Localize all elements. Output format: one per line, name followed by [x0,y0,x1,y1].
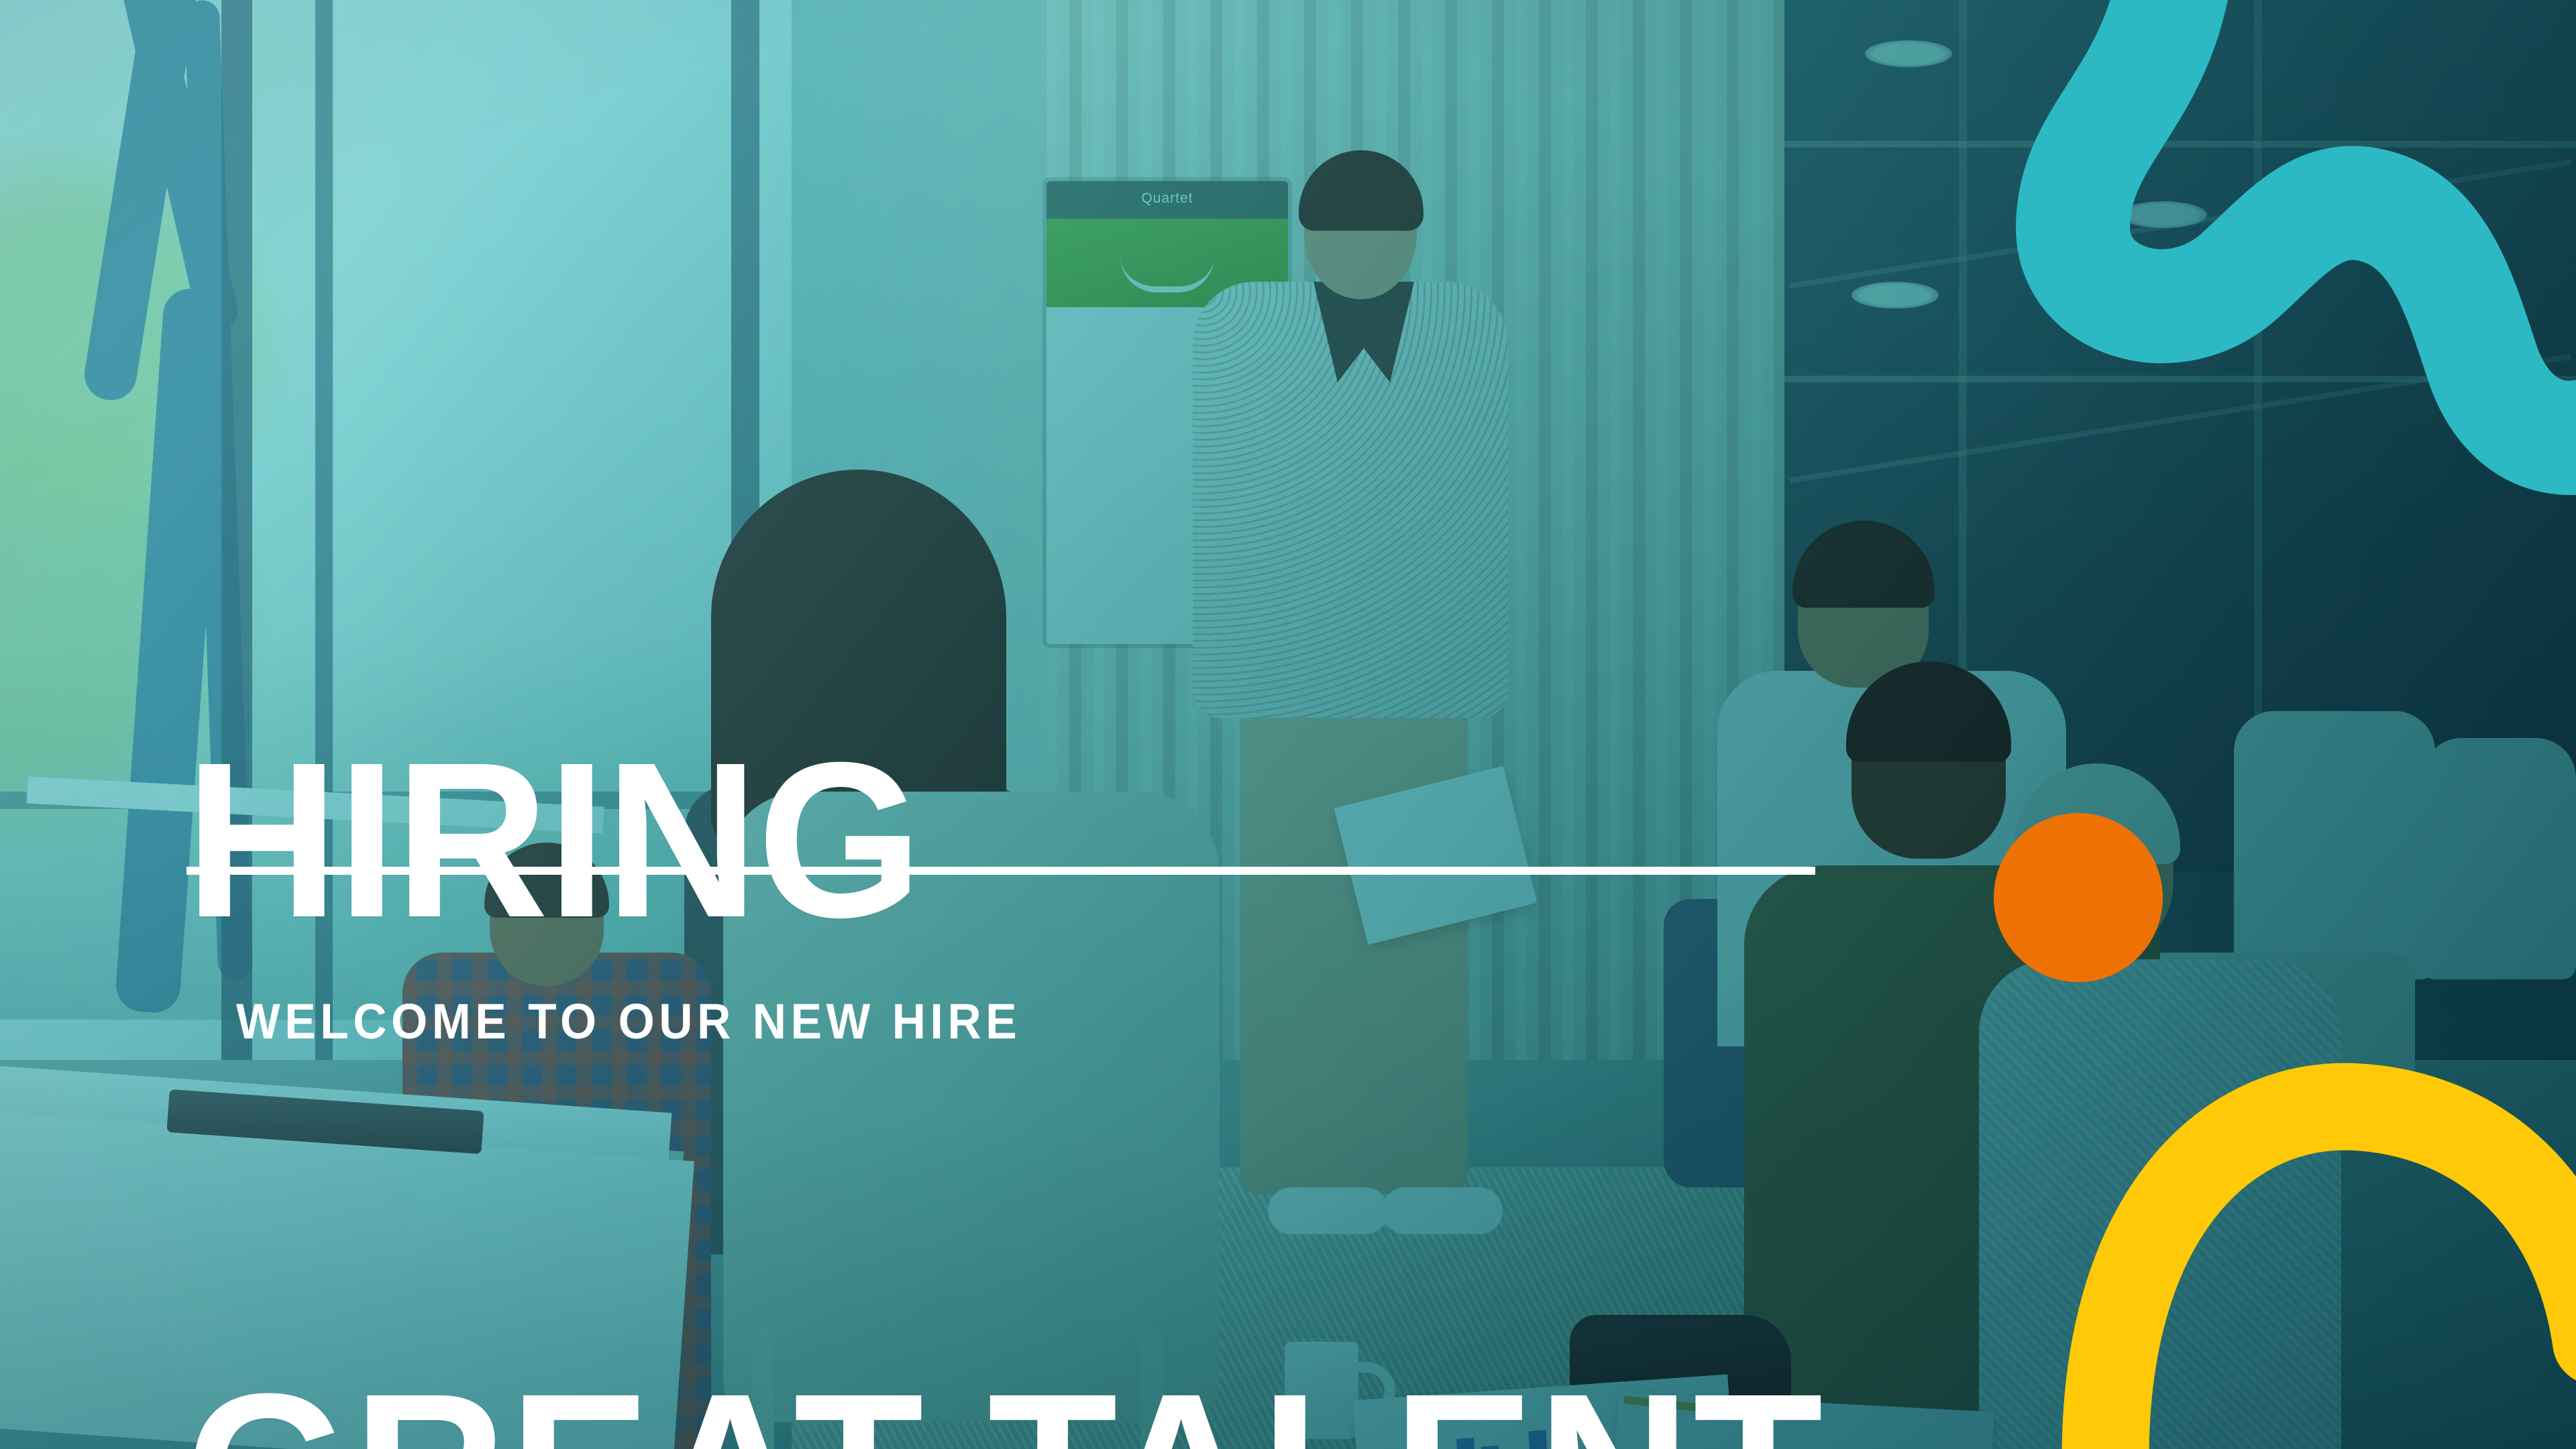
headline-line-2: GREAT TALENT [185,1366,1825,1449]
hiring-banner: Quartet [0,0,2576,1449]
banner-subtitle: WELCOME TO OUR NEW HIRE [236,993,1021,1050]
page-title: HIRING GREAT TALENT [185,314,1825,1449]
headline-line-1: HIRING [185,735,1825,945]
banner-content: HIRING GREAT TALENT WELCOME TO OUR NEW H… [0,0,2576,1449]
title-divider-rule [186,867,1815,875]
